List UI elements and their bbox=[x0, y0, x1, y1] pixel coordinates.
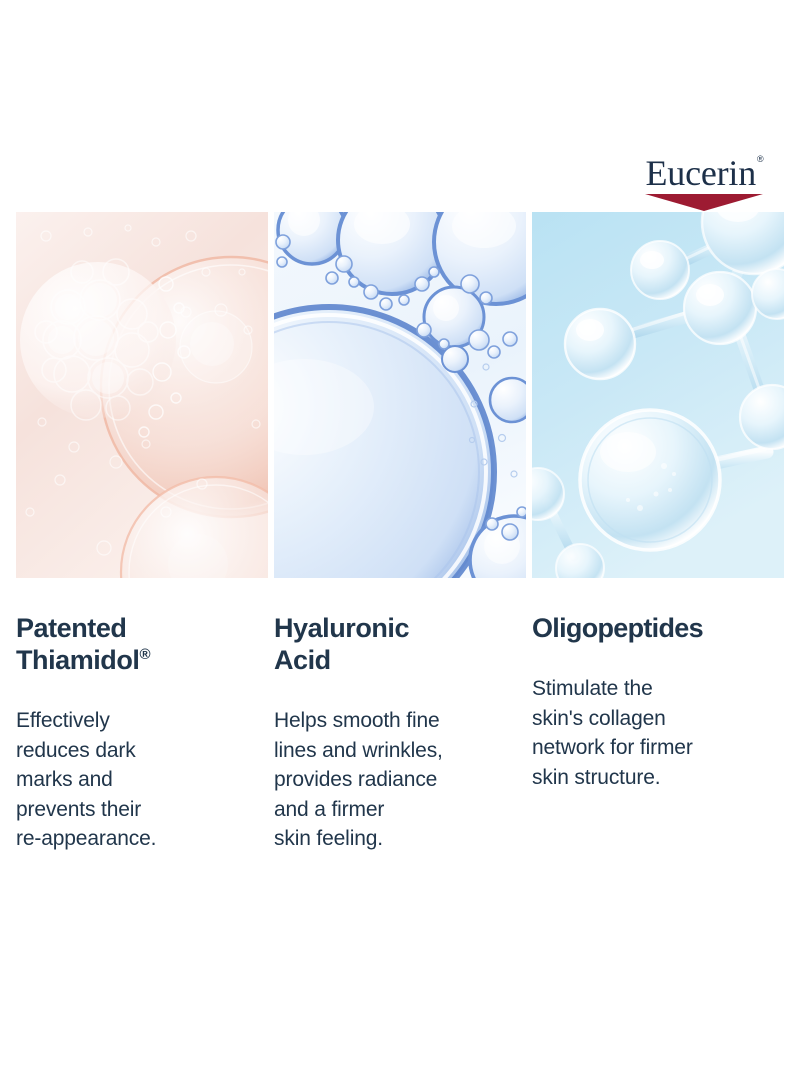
ingredient-image-1 bbox=[16, 212, 268, 578]
ingredient-image-strip bbox=[16, 212, 784, 578]
ingredient-body-2: Helps smooth fine lines and wrinkles, pr… bbox=[274, 706, 526, 854]
ingredient-column-2: Hyaluronic Acid Helps smooth fine lines … bbox=[274, 612, 526, 854]
registered-trademark-icon: ® bbox=[139, 646, 150, 663]
registered-trademark-icon: ® bbox=[757, 154, 763, 164]
eucerin-wordmark-text: Eucerin bbox=[646, 153, 757, 193]
ingredient-image-2 bbox=[274, 212, 526, 578]
eucerin-chevron-icon bbox=[645, 194, 763, 211]
ingredient-heading-1: Patented Thiamidol® bbox=[16, 612, 268, 676]
eucerin-logo: Eucerin® bbox=[640, 150, 768, 216]
ingredient-heading-3-text: Oligopeptides bbox=[532, 613, 703, 643]
blue-water-droplets-image bbox=[274, 212, 526, 578]
pink-bubble-foam-image bbox=[16, 212, 268, 578]
molecule-model-image bbox=[532, 212, 784, 578]
ingredient-heading-2-text: Hyaluronic Acid bbox=[274, 613, 409, 675]
eucerin-wordmark: Eucerin® bbox=[646, 150, 763, 192]
ingredient-heading-1-text: Patented Thiamidol bbox=[16, 613, 139, 675]
ingredient-column-3: Oligopeptides Stimulate the skin's colla… bbox=[532, 612, 784, 854]
ingredient-column-1: Patented Thiamidol® Effectively reduces … bbox=[16, 612, 268, 854]
ingredient-heading-3: Oligopeptides bbox=[532, 612, 784, 644]
ingredient-body-3: Stimulate the skin's collagen network fo… bbox=[532, 674, 784, 792]
ingredient-body-1: Effectively reduces dark marks and preve… bbox=[16, 706, 268, 854]
ingredient-image-3 bbox=[532, 212, 784, 578]
ingredient-text-columns: Patented Thiamidol® Effectively reduces … bbox=[16, 612, 784, 854]
ingredient-heading-2: Hyaluronic Acid bbox=[274, 612, 526, 676]
